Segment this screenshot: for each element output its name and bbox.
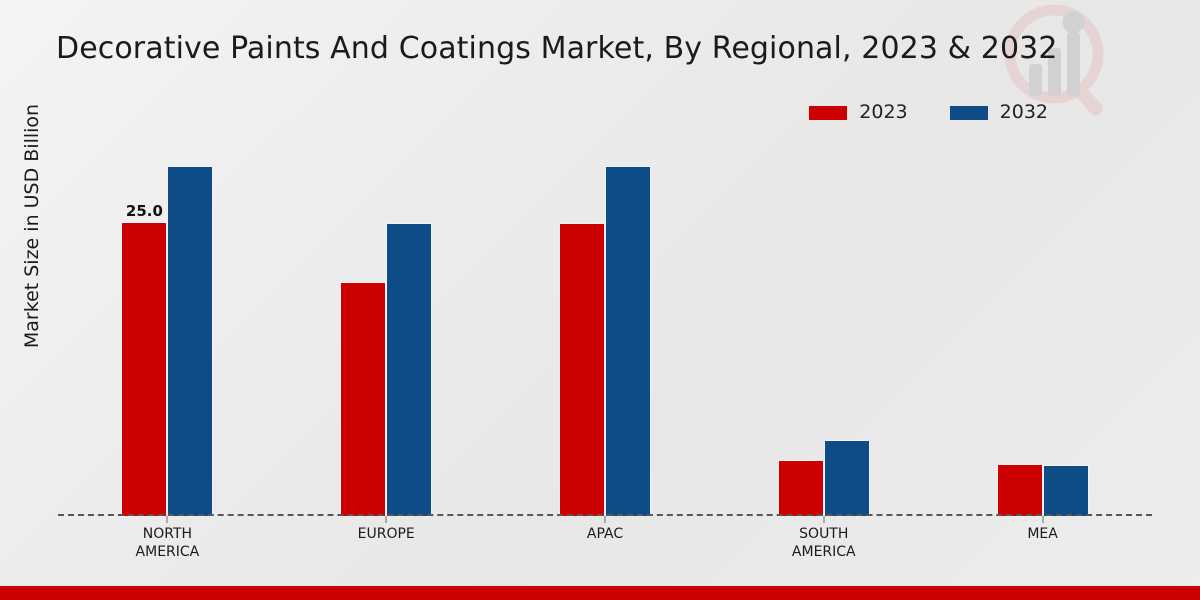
- bar-group: MEA: [933, 140, 1152, 516]
- page-title: Decorative Paints And Coatings Market, B…: [56, 31, 1058, 66]
- x-axis-tick: [823, 516, 824, 523]
- bar-pair: [340, 223, 432, 516]
- legend-swatch-2032: [950, 106, 988, 120]
- bar-2023[interactable]: [997, 464, 1043, 516]
- bar-pair: 25.0: [121, 166, 213, 516]
- bar-pair: [778, 440, 870, 516]
- x-axis-tick: [167, 516, 168, 523]
- y-axis-title: Market Size in USD Billion: [21, 61, 43, 391]
- bar-2023[interactable]: [778, 460, 824, 516]
- x-axis-category-label: SOUTH AMERICA: [792, 526, 856, 561]
- bar-group: APAC: [496, 140, 715, 516]
- legend-item-2023[interactable]: 2023: [809, 103, 907, 122]
- bar-group: EUROPE: [277, 140, 496, 516]
- plot-area: 25.0NORTH AMERICAEUROPEAPACSOUTH AMERICA…: [58, 140, 1152, 516]
- bottom-accent-strip: [0, 586, 1200, 600]
- bar-2032[interactable]: [824, 440, 870, 516]
- x-axis-category-label: NORTH AMERICA: [136, 526, 200, 561]
- chart-container: Decorative Paints And Coatings Market, B…: [0, 0, 1200, 600]
- bar-2032[interactable]: [167, 166, 213, 516]
- legend-swatch-2023: [809, 106, 847, 120]
- legend-item-2032[interactable]: 2032: [950, 103, 1048, 122]
- x-axis-category-label: MEA: [1027, 526, 1058, 544]
- x-axis-tick: [604, 516, 605, 523]
- bar-group: SOUTH AMERICA: [714, 140, 933, 516]
- x-axis-baseline: [58, 514, 1152, 516]
- bar-2032[interactable]: [1043, 465, 1089, 516]
- legend-label-2023: 2023: [859, 103, 907, 122]
- bar-value-label: 25.0: [126, 202, 163, 220]
- x-axis-category-label: EUROPE: [358, 526, 415, 544]
- bar-2023[interactable]: [559, 223, 605, 516]
- x-axis-tick: [386, 516, 387, 523]
- bar-2032[interactable]: [605, 166, 651, 516]
- bar-pair: [997, 464, 1089, 516]
- bar-2023[interactable]: [340, 282, 386, 516]
- legend-label-2032: 2032: [1000, 103, 1048, 122]
- bar-2032[interactable]: [386, 223, 432, 516]
- bar-groups: 25.0NORTH AMERICAEUROPEAPACSOUTH AMERICA…: [58, 140, 1152, 516]
- bar-group: 25.0NORTH AMERICA: [58, 140, 277, 516]
- x-axis-tick: [1042, 516, 1043, 523]
- x-axis-category-label: APAC: [587, 526, 623, 544]
- chart-legend: 2023 2032: [809, 103, 1048, 122]
- bar-2023[interactable]: 25.0: [121, 222, 167, 516]
- bar-pair: [559, 166, 651, 516]
